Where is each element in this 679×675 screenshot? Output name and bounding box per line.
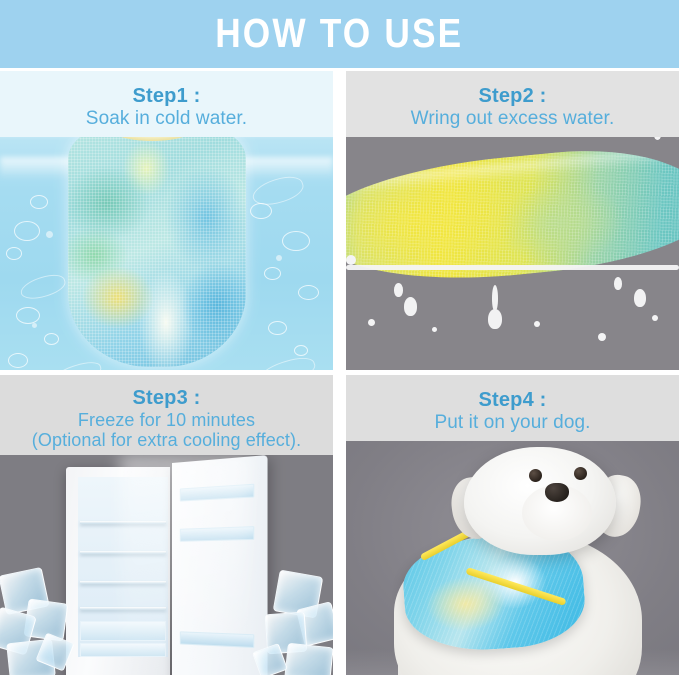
- water-swirl: [18, 270, 68, 303]
- step-panel-step3: Step3 : Freeze for 10 minutes (Optional …: [0, 375, 333, 675]
- bubble-icon: [14, 221, 40, 241]
- step1-text-line-1: Soak in cold water.: [86, 108, 247, 130]
- ice-cube: [284, 643, 333, 675]
- step3-photo: [0, 455, 333, 675]
- step-panel-step2: Step2 : Wring out excess water.: [346, 71, 679, 370]
- refrigerator-door: [172, 455, 268, 675]
- dog-eye-left: [529, 469, 542, 482]
- bubble-icon: [30, 195, 48, 209]
- page-title: HOW TO USE: [215, 13, 463, 56]
- step2-caption: Step2 : Wring out excess water.: [346, 71, 679, 137]
- water-splash: [652, 315, 658, 321]
- step4-text-line-1: Put it on your dog.: [434, 412, 590, 434]
- dog-eye-right: [574, 467, 587, 480]
- step-panel-step4: Step4 : Put it on your dog.: [346, 375, 679, 675]
- step3-text-line-2: (Optional for extra cooling effect).: [32, 430, 301, 450]
- step4-label: Step4 :: [478, 389, 546, 412]
- water-swirl: [256, 353, 318, 370]
- water-splash: [534, 321, 540, 327]
- water-drop: [394, 283, 403, 297]
- cooling-shirt: [68, 119, 246, 367]
- door-bin: [180, 526, 255, 542]
- door-bin: [180, 631, 255, 648]
- bubble-icon: [32, 323, 37, 328]
- water-drop: [404, 297, 417, 316]
- step1-caption: Step1 : Soak in cold water.: [0, 71, 333, 137]
- door-bin: [180, 484, 255, 502]
- step3-label: Step3 :: [132, 387, 200, 410]
- how-to-use-infographic: HOW TO USE: [0, 0, 679, 675]
- step3-text-line-1: Freeze for 10 minutes: [78, 410, 255, 430]
- step2-label: Step2 :: [478, 85, 546, 108]
- fridge-shelf: [80, 581, 166, 584]
- bubble-icon: [6, 247, 22, 260]
- bubble-icon: [8, 353, 28, 368]
- water-drop: [492, 285, 498, 311]
- cloth-highlight: [346, 146, 679, 196]
- water-spray-line: [346, 265, 679, 270]
- bubble-icon: [282, 231, 310, 251]
- bubble-icon: [16, 307, 40, 324]
- water-splash: [346, 255, 356, 265]
- header-banner: HOW TO USE: [0, 0, 679, 68]
- bubble-icon: [294, 345, 308, 356]
- bubble-icon: [250, 203, 272, 219]
- bubble-icon: [46, 231, 53, 238]
- bubble-icon: [44, 333, 59, 345]
- fridge-shelf: [80, 521, 166, 524]
- wrung-cloth: [346, 138, 679, 294]
- water-splash: [598, 333, 606, 341]
- step2-text-line-1: Wring out excess water.: [411, 108, 615, 130]
- dog-nose: [545, 483, 569, 502]
- bubble-icon: [276, 255, 282, 261]
- water-drop: [634, 289, 646, 307]
- bubble-icon: [268, 321, 287, 335]
- fridge-shelf: [80, 551, 166, 554]
- step-panel-step1: COOLING Step1 : Soak in cold water.: [0, 71, 333, 370]
- water-drop: [488, 309, 502, 329]
- fridge-crisper-drawer: [80, 643, 166, 657]
- steps-grid: COOLING Step1 : Soak in cold water.: [0, 71, 679, 675]
- step1-label: Step1 :: [132, 85, 200, 108]
- fridge-crisper-drawer: [80, 621, 166, 641]
- bubble-icon: [298, 285, 319, 300]
- step3-caption: Step3 : Freeze for 10 minutes (Optional …: [0, 375, 333, 455]
- water-drop: [614, 277, 622, 290]
- fridge-shelf: [80, 607, 166, 610]
- water-splash: [368, 319, 375, 326]
- bubble-icon: [264, 267, 281, 280]
- step4-photo: [346, 441, 679, 675]
- step4-caption: Step4 : Put it on your dog.: [346, 375, 679, 441]
- water-splash: [432, 327, 437, 332]
